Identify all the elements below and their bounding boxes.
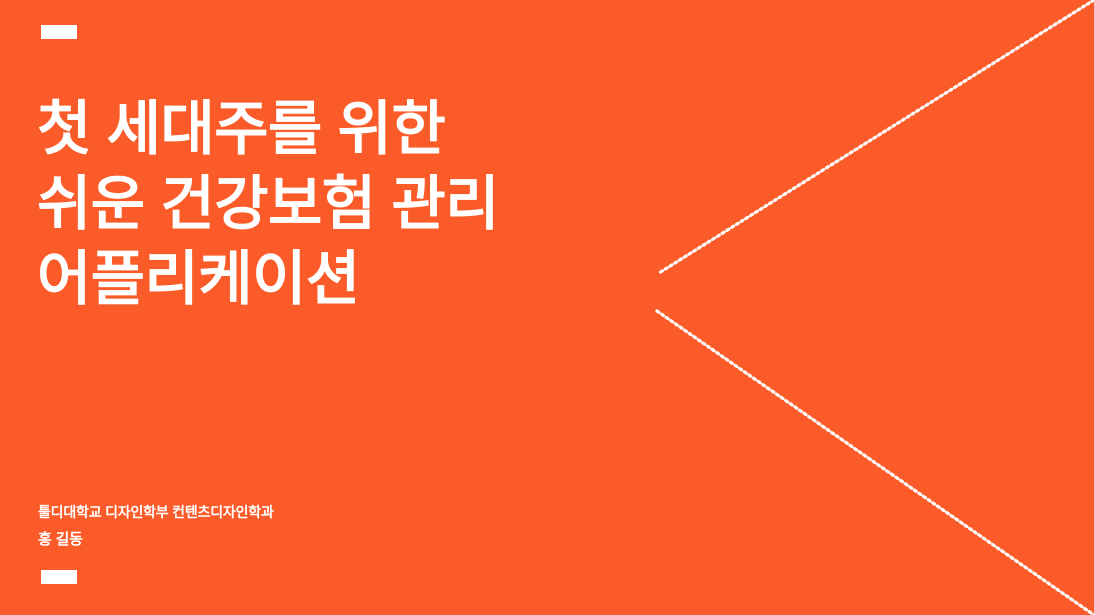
credits: 툴디대학교 디자인학부 컨텐츠디자인학과 홍 길동 [38, 503, 598, 551]
page-title: 첫 세대주를 위한 쉬운 건강보험 관리 어플리케이션 [37, 92, 657, 317]
top-rule-mark [41, 25, 77, 39]
chevron-upper-line [659, 0, 1094, 273]
credits-organization: 툴디대학교 디자인학부 컨텐츠디자인학과 [38, 503, 598, 522]
chevron-lower-line [657, 311, 1094, 615]
title-line-2: 쉬운 건강보험 관리 [37, 167, 657, 242]
title-line-3: 어플리케이션 [37, 242, 657, 317]
bottom-rule-mark [41, 570, 77, 584]
credits-author: 홍 길동 [38, 529, 598, 551]
title-line-1: 첫 세대주를 위한 [37, 92, 657, 167]
title-slide: 첫 세대주를 위한 쉬운 건강보험 관리 어플리케이션 툴디대학교 디자인학부 … [0, 0, 1094, 615]
